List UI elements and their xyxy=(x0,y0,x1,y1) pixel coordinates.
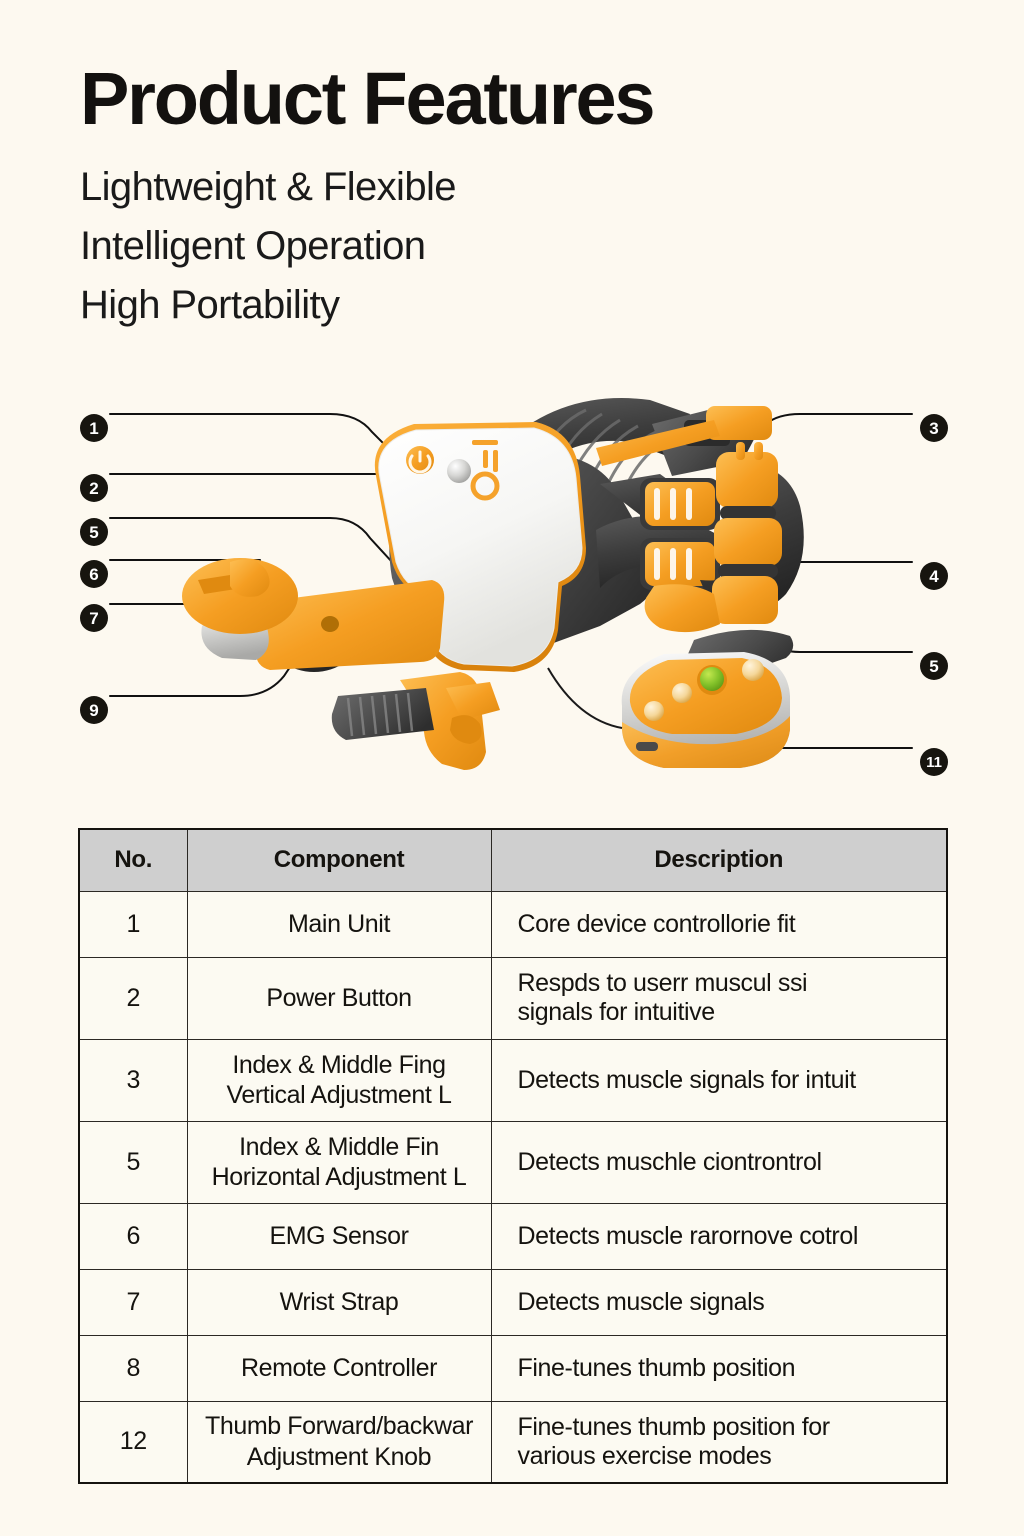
subtitle-line-1: Lightweight & Flexible xyxy=(80,158,653,217)
callout-marker-5-right[interactable]: 5 xyxy=(920,652,948,680)
power-led xyxy=(700,667,724,691)
status-indicator xyxy=(447,459,471,483)
remote-button-c[interactable] xyxy=(644,701,664,721)
device-illustration xyxy=(0,380,1024,810)
component-line: Main Unit xyxy=(194,909,485,940)
component-line: Wrist Strap xyxy=(194,1287,485,1318)
component-line: EMG Sensor xyxy=(194,1221,485,1252)
callout-marker-2[interactable]: 2 xyxy=(80,474,108,502)
cell-no: 12 xyxy=(79,1401,187,1483)
cell-description: Respds to userr muscul ssi signals for i… xyxy=(491,957,947,1039)
description-line: various exercise modes xyxy=(518,1442,941,1471)
cell-no: 5 xyxy=(79,1121,187,1203)
cell-component: Thumb Forward/backwar Adjustment Knob xyxy=(187,1401,491,1483)
table-row: 7 Wrist Strap Detects muscle signals xyxy=(79,1269,947,1335)
finger-joint-1 xyxy=(720,506,776,520)
cell-no: 6 xyxy=(79,1203,187,1269)
table-body: 1 Main Unit Core device controllorie fit… xyxy=(79,891,947,1483)
cell-description: Detects muscle rarornove cotrol xyxy=(491,1203,947,1269)
subtitle-line-2: Intelligent Operation xyxy=(80,217,653,276)
cell-description: Detects muschle ciontrontrol xyxy=(491,1121,947,1203)
description-line: Detects muscle rarornove cotrol xyxy=(518,1222,941,1251)
wrist-strap xyxy=(332,672,500,770)
component-line: Vertical Adjustment L xyxy=(194,1080,485,1111)
subtitle-line-3: High Portability xyxy=(80,276,653,335)
table-row: 8 Remote Controller Fine-tunes thumb pos… xyxy=(79,1335,947,1401)
callout-marker-7[interactable]: 7 xyxy=(80,604,108,632)
cell-no: 8 xyxy=(79,1335,187,1401)
description-line: Detects muscle signals xyxy=(518,1288,941,1317)
cell-description: Detects muscle signals for intuit xyxy=(491,1039,947,1121)
table-row: 12 Thumb Forward/backwar Adjustment Knob… xyxy=(79,1401,947,1483)
remote-controller[interactable] xyxy=(622,630,794,768)
cell-description: Core device controllorie fit xyxy=(491,891,947,957)
remote-port xyxy=(636,742,658,751)
description-line: Detects muscle signals for intuit xyxy=(518,1066,941,1095)
cell-description: Detects muscle signals xyxy=(491,1269,947,1335)
callout-marker-6[interactable]: 6 xyxy=(80,560,108,588)
table-row: 3 Index & Middle Fing Vertical Adjustmen… xyxy=(79,1039,947,1121)
table-row: 5 Index & Middle Fin Horizontal Adjustme… xyxy=(79,1121,947,1203)
component-spec-table: No. Component Description 1 Main Unit Co… xyxy=(78,828,948,1484)
cell-component: Power Button xyxy=(187,957,491,1039)
table-row: 2 Power Button Respds to userr muscul ss… xyxy=(79,957,947,1039)
cell-no: 7 xyxy=(79,1269,187,1335)
remote-button-b[interactable] xyxy=(672,683,692,703)
remote-cable xyxy=(548,668,622,728)
description-line: Core device controllorie fit xyxy=(518,910,941,939)
cell-component: Main Unit xyxy=(187,891,491,957)
finger-segment-2 xyxy=(714,518,782,566)
component-line: Index & Middle Fing xyxy=(194,1050,485,1081)
finger-joint-2 xyxy=(718,564,778,578)
subtitle-block: Lightweight & Flexible Intelligent Opera… xyxy=(80,158,653,336)
page-title: Product Features xyxy=(80,62,653,136)
callout-marker-9[interactable]: 9 xyxy=(80,696,108,724)
cell-no: 3 xyxy=(79,1039,187,1121)
cell-component: Index & Middle Fin Horizontal Adjustment… xyxy=(187,1121,491,1203)
component-line: Adjustment Knob xyxy=(194,1442,485,1473)
cell-description: Fine-tunes thumb position xyxy=(491,1335,947,1401)
component-line: Thumb Forward/backwar xyxy=(194,1411,485,1442)
table-header: No. Component Description xyxy=(79,829,947,891)
callout-marker-5-left[interactable]: 5 xyxy=(80,518,108,546)
callout-marker-1[interactable]: 1 xyxy=(80,414,108,442)
component-line: Index & Middle Fin xyxy=(194,1132,485,1163)
cell-no: 1 xyxy=(79,891,187,957)
header: Product Features Lightweight & Flexible … xyxy=(80,62,653,336)
cell-no: 2 xyxy=(79,957,187,1039)
table-row: 6 EMG Sensor Detects muscle rarornove co… xyxy=(79,1203,947,1269)
description-line: Fine-tunes thumb position for xyxy=(518,1413,941,1442)
grip-pad-upper xyxy=(640,478,720,530)
column-header-no: No. xyxy=(79,829,187,891)
column-header-component: Component xyxy=(187,829,491,891)
component-line: Remote Controller xyxy=(194,1353,485,1384)
callout-marker-3[interactable]: 3 xyxy=(920,414,948,442)
remote-button-a[interactable] xyxy=(742,659,764,681)
description-line: signals for intuitive xyxy=(518,998,941,1027)
power-button[interactable] xyxy=(406,446,434,474)
cell-description: Fine-tunes thumb position for various ex… xyxy=(491,1401,947,1483)
product-features-page: Product Features Lightweight & Flexible … xyxy=(0,0,1024,1536)
column-header-description: Description xyxy=(491,829,947,891)
finger-segment-3 xyxy=(712,576,778,624)
callout-marker-11[interactable]: 11 xyxy=(920,748,948,776)
description-line: Detects muschle ciontrontrol xyxy=(518,1148,941,1177)
cell-component: Remote Controller xyxy=(187,1335,491,1401)
description-line: Fine-tunes thumb position xyxy=(518,1354,941,1383)
description-line: Respds to userr muscul ssi xyxy=(518,969,941,998)
product-diagram xyxy=(0,380,1024,810)
cell-component: Wrist Strap xyxy=(187,1269,491,1335)
finger-segment-4 xyxy=(645,584,720,632)
cell-component: EMG Sensor xyxy=(187,1203,491,1269)
table-row: 1 Main Unit Core device controllorie fit xyxy=(79,891,947,957)
callout-marker-4[interactable]: 4 xyxy=(920,562,948,590)
cell-component: Index & Middle Fing Vertical Adjustment … xyxy=(187,1039,491,1121)
component-line: Horizontal Adjustment L xyxy=(194,1162,485,1193)
component-line: Power Button xyxy=(194,983,485,1014)
table-header-row: No. Component Description xyxy=(79,829,947,891)
